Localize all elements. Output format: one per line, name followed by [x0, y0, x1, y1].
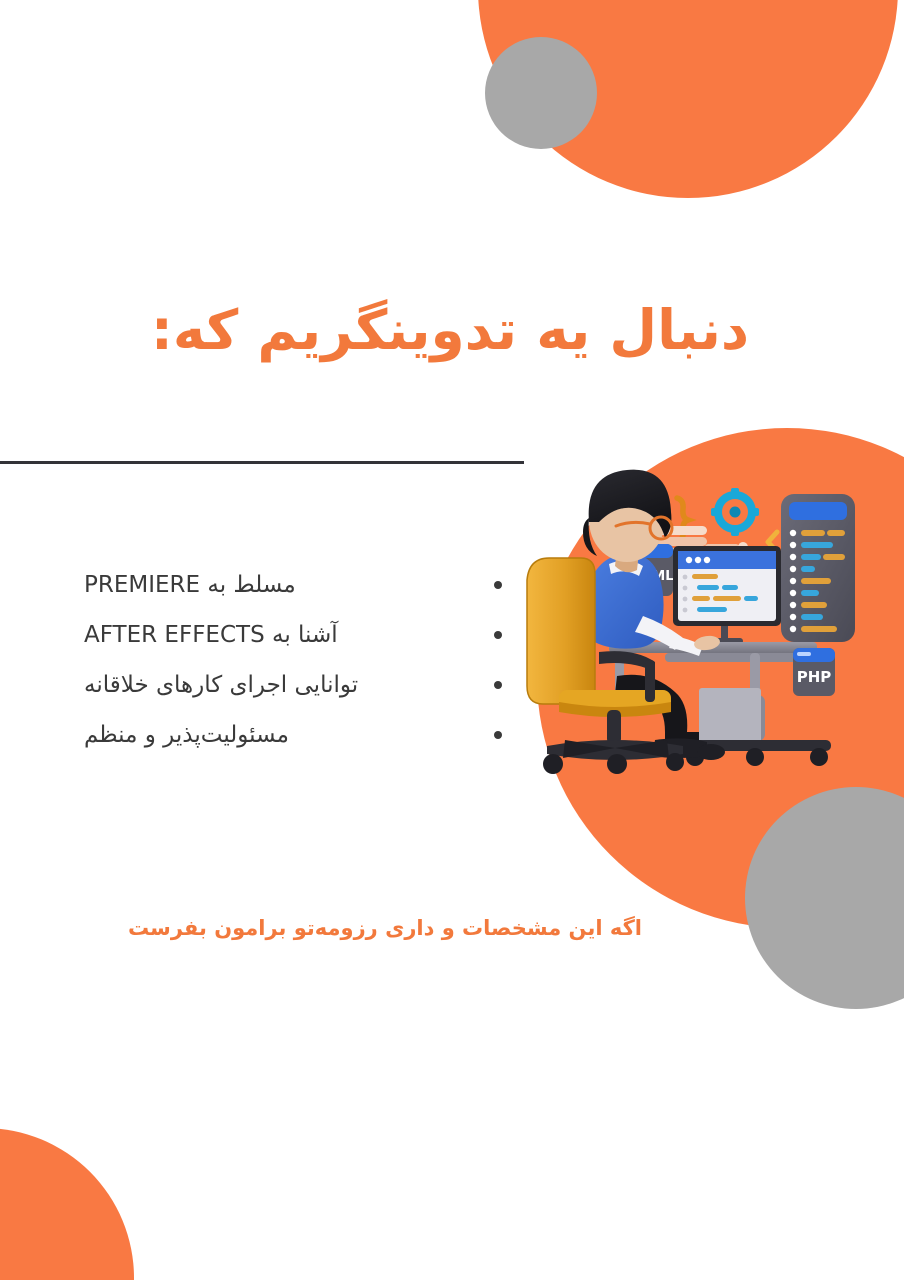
list-item: آشنا به AFTER EFFECTS: [84, 610, 504, 660]
page-title: دنبال یه تدوینگریم که:: [150, 296, 750, 365]
requirement-text: توانایی اجرای کارهای خلاقانه: [84, 674, 358, 697]
bottom-left-orange-circle: [0, 1128, 134, 1280]
requirement-text: مسلط به PREMIERE: [84, 574, 296, 597]
php-card: PHP: [793, 648, 835, 696]
developer-at-desk-illustration: HTML: [505, 440, 904, 820]
code-panel: [781, 494, 855, 642]
requirements-list: مسلط به PREMIERE آشنا به AFTER EFFECTS ت…: [84, 560, 504, 760]
divider-rule: [0, 461, 524, 464]
poster-canvas: دنبال یه تدوینگریم که:: [0, 0, 904, 1280]
list-item: توانایی اجرای کارهای خلاقانه: [84, 660, 504, 710]
call-to-action-text: اگه این مشخصات و داری رزومه‌تو برامون بف…: [128, 916, 642, 940]
list-item: مسئولیت‌پذیر و منظم: [84, 710, 504, 760]
gear-icon: [711, 488, 759, 536]
monitor: [673, 546, 781, 644]
requirement-text: آشنا به AFTER EFFECTS: [84, 624, 338, 647]
top-gray-circle: [485, 37, 597, 149]
requirement-text: مسئولیت‌پذیر و منظم: [84, 724, 289, 747]
php-card-label: PHP: [797, 668, 832, 686]
list-item: مسلط به PREMIERE: [84, 560, 504, 610]
